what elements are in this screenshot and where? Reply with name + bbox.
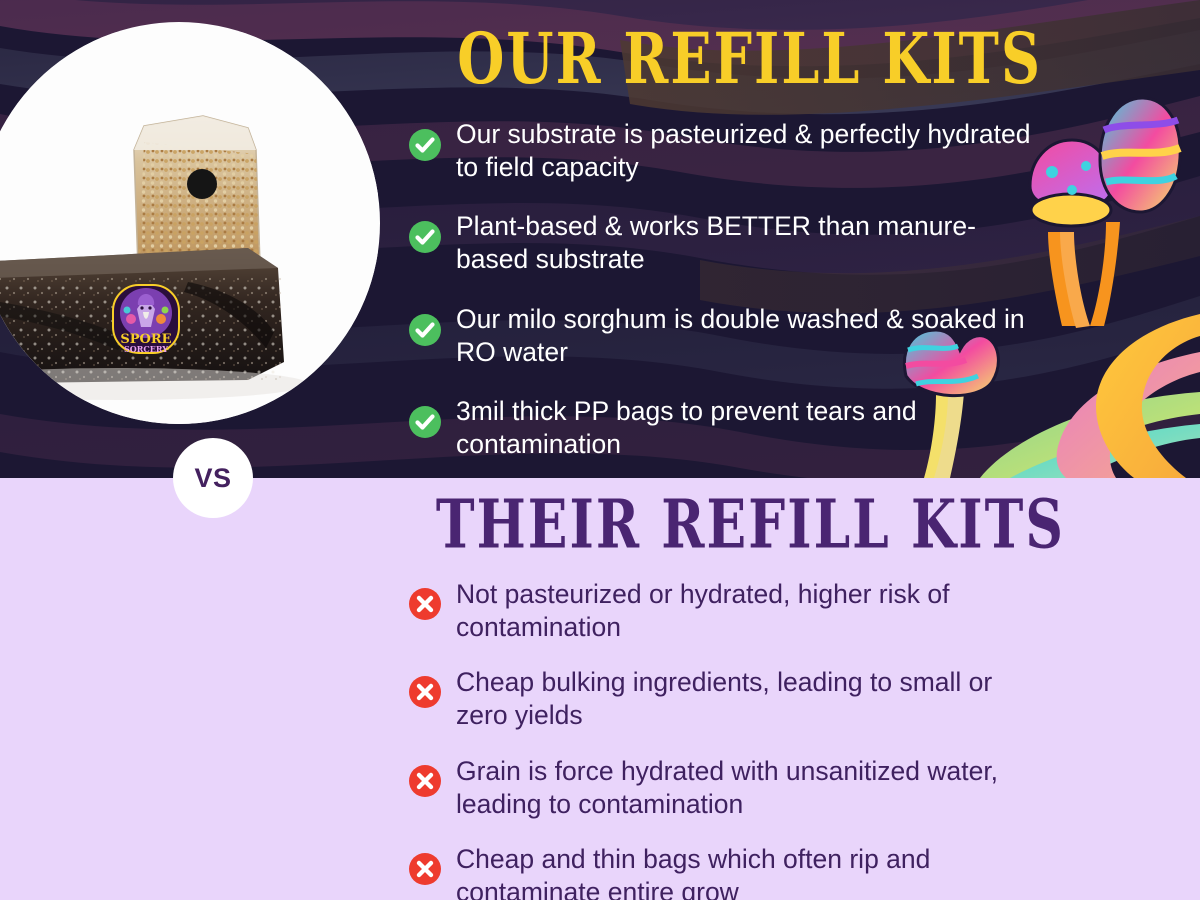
x-circle-icon [408, 852, 442, 886]
check-circle-icon [408, 128, 442, 162]
list-item-text: Not pasteurized or hydrated, higher risk… [456, 578, 1048, 644]
infographic-canvas: SPORE SORCERY [0, 0, 1200, 900]
their-kits-title: THEIR REFILL KITS [400, 496, 1100, 554]
x-circle-icon [408, 587, 442, 621]
list-item-text: Cheap and thin bags which often rip and … [456, 843, 1048, 900]
list-item: Not pasteurized or hydrated, higher risk… [408, 578, 1048, 644]
their-kits-drawback-list: Not pasteurized or hydrated, higher risk… [408, 578, 1048, 900]
x-circle-icon [408, 675, 442, 709]
their-kits-title-text: THEIR REFILL KITS [435, 485, 1064, 564]
logo-name-line2: SORCERY [124, 344, 168, 354]
list-item-text: Cheap bulking ingredients, leading to sm… [456, 666, 1048, 732]
spore-sorcery-logo: SPORE SORCERY [110, 283, 182, 355]
list-item: Our milo sorghum is double washed & soak… [408, 303, 1048, 369]
list-item: Our substrate is pasteurized & perfectly… [408, 118, 1048, 184]
our-refill-kit-image [0, 32, 378, 424]
x-circle-icon [408, 764, 442, 798]
our-kits-title-text: OUR REFILL KITS [458, 18, 1043, 100]
vs-badge: VS [173, 438, 253, 518]
list-item: Cheap bulking ingredients, leading to sm… [408, 666, 1048, 732]
our-kits-benefit-list: Our substrate is pasteurized & perfectly… [408, 118, 1048, 487]
list-item-text: Grain is force hydrated with unsanitized… [456, 755, 1048, 821]
list-item: Grain is force hydrated with unsanitized… [408, 755, 1048, 821]
check-circle-icon [408, 313, 442, 347]
check-circle-icon [408, 220, 442, 254]
check-circle-icon [408, 405, 442, 439]
list-item-text: 3mil thick PP bags to prevent tears and … [456, 395, 1048, 461]
our-kits-title: OUR REFILL KITS [400, 28, 1100, 90]
our-product-photo [0, 22, 380, 424]
list-item-text: Our milo sorghum is double washed & soak… [456, 303, 1048, 369]
list-item: Plant-based & works BETTER than manure-b… [408, 210, 1048, 276]
list-item-text: Plant-based & works BETTER than manure-b… [456, 210, 1048, 276]
list-item: 3mil thick PP bags to prevent tears and … [408, 395, 1048, 461]
vs-badge-label: VS [194, 463, 231, 494]
list-item-text: Our substrate is pasteurized & perfectly… [456, 118, 1048, 184]
list-item: Cheap and thin bags which often rip and … [408, 843, 1048, 900]
